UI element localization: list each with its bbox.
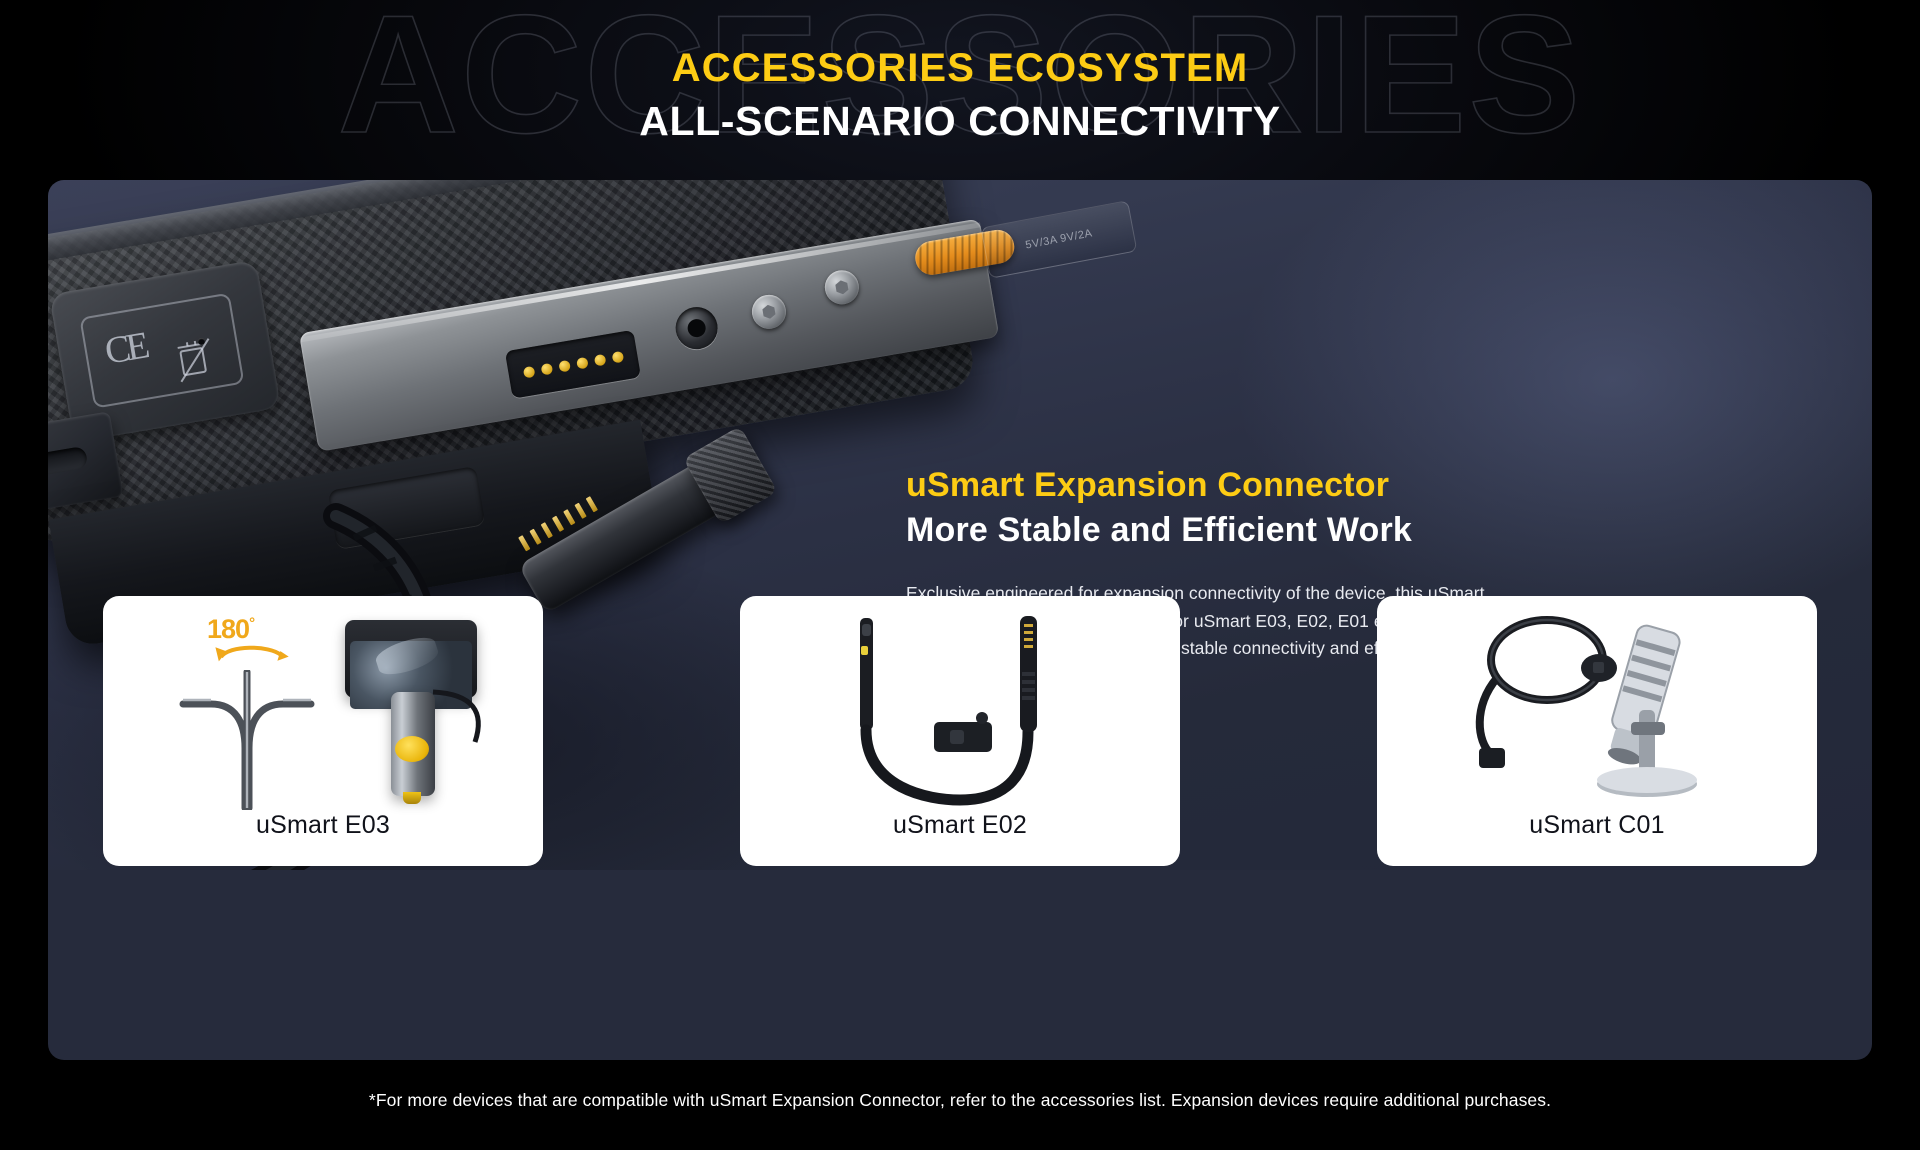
pogo-pin <box>558 359 571 372</box>
handle-tip <box>403 792 421 804</box>
audio-jack-port <box>672 304 720 352</box>
pogo-pin <box>611 350 624 363</box>
rotation-arrows-icon <box>211 641 297 667</box>
connector-pin <box>541 522 553 538</box>
badge-value: 180 <box>207 614 249 644</box>
pogo-pin <box>522 365 535 378</box>
phone-with-live-view <box>345 620 477 698</box>
connector-pin <box>552 516 564 532</box>
kickstand-slot <box>48 446 88 480</box>
card-usmart-e02[interactable]: uSmart E02 <box>740 596 1180 866</box>
pogo-pin <box>540 362 553 375</box>
usb-microscope-with-stand-icon <box>1377 596 1817 804</box>
hero-heading-white: More Stable and Efficient Work <box>906 510 1546 551</box>
card-usmart-c01[interactable]: uSmart C01 <box>1377 596 1817 866</box>
hex-screw <box>822 268 861 307</box>
c01-microscope-drawing <box>1443 602 1743 806</box>
cards-strip-background <box>48 870 1872 1060</box>
connector-pin <box>563 509 575 525</box>
page-title: ACCESSORIES ECOSYSTEM <box>0 46 1920 92</box>
rotation-180-badge: 180° <box>207 614 327 670</box>
page-subtitle: ALL-SCENARIO CONNECTIVITY <box>0 97 1920 146</box>
accessory-cards-row: 180° <box>48 596 1872 870</box>
frame-print-label: 5V/3A 9V/2A <box>980 200 1137 279</box>
connector-pin <box>518 535 530 551</box>
hex-screw <box>749 292 788 331</box>
bottom-notch <box>328 466 486 550</box>
page-root: ACCESSORIES ACCESSORIES ECOSYSTEM ALL-SC… <box>0 0 1920 1150</box>
card-label: uSmart E02 <box>740 811 1180 840</box>
card-label: uSmart C01 <box>1377 811 1817 840</box>
connector-pin <box>586 496 598 512</box>
crossed-out-wheeled-bin-icon <box>170 332 221 387</box>
connector-pin <box>529 529 541 545</box>
pogo-pin <box>575 356 588 369</box>
label-plate-border: CE <box>79 293 244 409</box>
footnote-text: *For more devices that are compatible wi… <box>0 1090 1920 1111</box>
card-usmart-e03[interactable]: 180° <box>103 596 543 866</box>
header-block: ACCESSORIES ECOSYSTEM ALL-SCENARIO CONNE… <box>0 46 1920 146</box>
ce-mark-icon: CE <box>102 324 149 374</box>
connector-pin <box>574 503 586 519</box>
flexible-probe-icon <box>179 670 349 810</box>
phone-connect-cable-icon <box>429 688 499 748</box>
card-label: uSmart E03 <box>103 811 543 840</box>
articulating-endoscope-with-phone-icon: 180° <box>103 596 543 804</box>
pogo-pin-connector-port <box>505 330 641 399</box>
badge-degree-symbol: ° <box>249 615 254 632</box>
handle-yellow-knob <box>395 736 429 762</box>
hero-heading-accent: uSmart Expansion Connector <box>906 465 1546 506</box>
endoscope-cable-icon <box>740 596 1180 804</box>
e02-cable-drawing <box>832 610 1092 810</box>
pogo-pin <box>593 353 606 366</box>
